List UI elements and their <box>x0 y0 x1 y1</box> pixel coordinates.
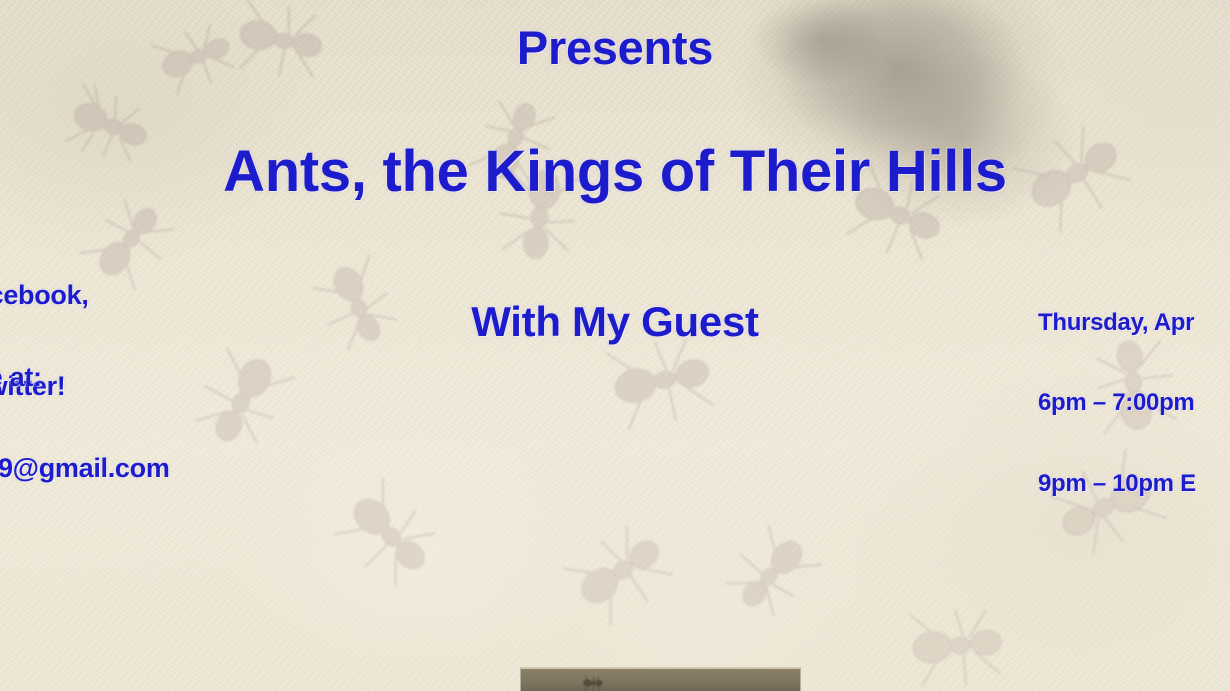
ant-decoration <box>581 675 607 691</box>
event-schedule-block: Thursday, Apr 6pm – 7:00pm 9pm – 10pm E <box>1038 256 1196 552</box>
event-time-line-2: 9pm – 10pm E <box>1038 471 1196 498</box>
presents-kicker: Presents <box>0 22 1230 75</box>
contact-email-address[interactable]: atures19@gmail.com <box>0 453 170 483</box>
event-date: Thursday, Apr <box>1038 310 1196 337</box>
page-title: Ants, the Kings of Their Hills <box>0 140 1230 205</box>
contact-email-block: mail me at: atures19@gmail.com <box>0 302 170 544</box>
contact-line-1: mail me at: <box>0 362 170 392</box>
event-time-line-1: 6pm – 7:00pm <box>1038 390 1196 417</box>
presentation-slide: Presents Ants, the Kings of Their Hills … <box>0 0 1230 691</box>
bottom-overlay-plate <box>520 667 801 691</box>
